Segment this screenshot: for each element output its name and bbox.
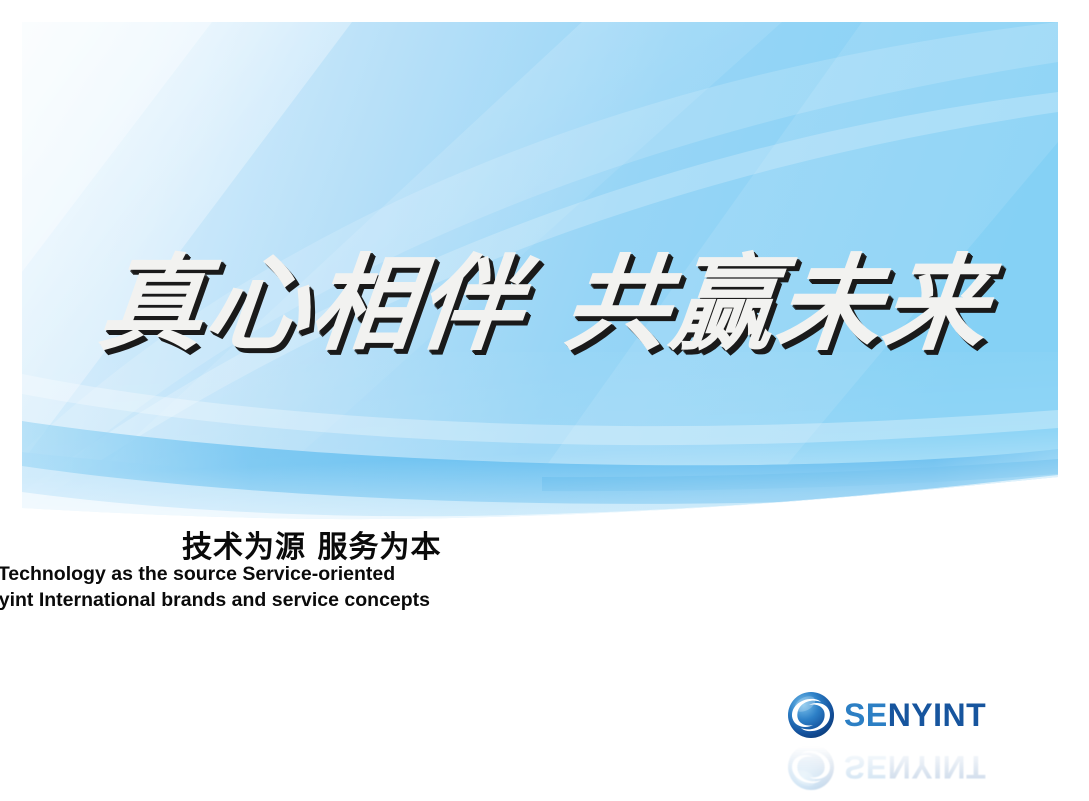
slide-background-art — [22, 22, 1058, 779]
senyint-globe-swoosh-icon-reflection — [786, 742, 836, 792]
logo-main-row: SENYINT — [786, 690, 986, 740]
logo-wordmark-rest: NYINT — [888, 697, 987, 733]
senyint-globe-swoosh-icon — [786, 690, 836, 740]
logo-wordmark-lead: SE — [844, 697, 888, 733]
subtitle-english-line-2: Senyint International brands and service… — [0, 589, 741, 612]
senyint-logo: SENYINT SENYINT — [786, 690, 1026, 790]
logo-wordmark-lead-reflection: SE — [844, 749, 888, 785]
logo-wordmark-reflection: SENYINT — [844, 751, 986, 783]
logo-wordmark-rest-reflection: NYINT — [888, 749, 987, 785]
logo-reflection: SENYINT — [786, 742, 986, 792]
logo-wordmark: SENYINT — [844, 699, 986, 731]
presentation-slide: 真心相伴共赢未来 技术为源 服务为本 Technology as the sou… — [0, 0, 1089, 801]
subtitle-english-line-1: Technology as the source Service-oriente… — [0, 563, 741, 586]
subtitle-chinese: 技术为源 服务为本 — [182, 522, 441, 566]
